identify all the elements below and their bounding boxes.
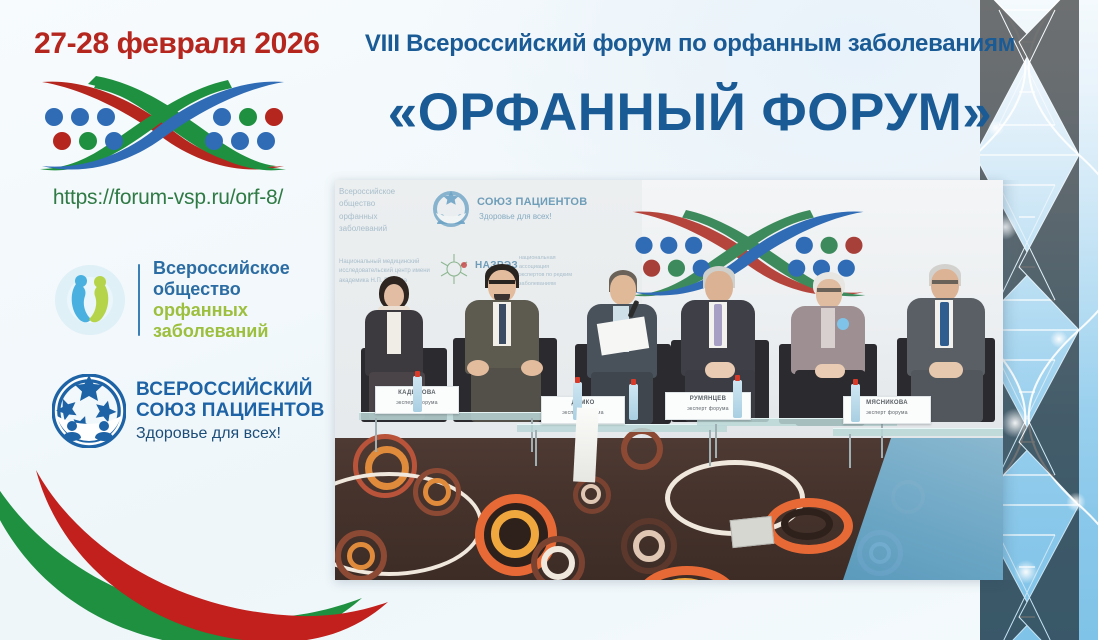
forum-url[interactable]: https://forum-vsp.ru/orf-8/: [34, 186, 302, 210]
backdrop-line: Всероссийское: [339, 186, 395, 198]
org-name-vsp: ВСЕРОССИЙСКИЙ СОЮЗ ПАЦИЕНТОВ Здоровье дл…: [136, 380, 325, 442]
event-poster: 27-28 февраля 2026 https://forum-vsp.ru/…: [0, 0, 1098, 640]
backdrop-logo-nazred: [439, 252, 475, 291]
backdrop-line: орфанных: [339, 211, 395, 223]
rolled-banner: [573, 407, 599, 482]
backdrop-line: исследовательский центр имени: [339, 267, 430, 276]
water-bottle: [629, 384, 638, 420]
backdrop-line: ассоциация: [519, 263, 572, 272]
backdrop-line: экспертов по редким: [519, 271, 572, 280]
org-line: ВСЕРОССИЙСКИЙ: [136, 380, 325, 401]
forum-title: «ОРФАННЫЙ ФОРУМ»: [330, 82, 1050, 143]
forum-subtitle: VIII Всероссийский форум по орфанным заб…: [330, 30, 1050, 58]
backdrop-logo-vsooz: Всероссийское общество орфанных заболева…: [339, 186, 395, 236]
bokeh-glow: [1066, 492, 1086, 512]
org-line: Всероссийское: [153, 258, 290, 279]
neuron-icon: [439, 252, 475, 286]
backdrop-line: заболеваний: [339, 223, 395, 235]
org-line: заболеваний: [153, 321, 290, 342]
backdrop-line: национальная: [519, 254, 572, 263]
globe-people-icon: [52, 262, 128, 338]
org-logo-vsp: ВСЕРОССИЙСКИЙ СОЮЗ ПАЦИЕНТОВ Здоровье дл…: [52, 374, 325, 448]
backdrop-vsp-title: СОЮЗ ПАЦИЕНТОВ: [477, 196, 587, 208]
org-line: орфанных: [153, 300, 290, 321]
nameplate-surname: ДЕМКО: [542, 399, 624, 408]
backdrop-line: общество: [339, 198, 395, 210]
water-bottle: [733, 380, 742, 418]
backdrop-line: Национальный медицинский: [339, 258, 430, 267]
backdrop-line: заболеваниям: [519, 280, 572, 289]
event-date: 27-28 февраля 2026: [34, 27, 302, 61]
org-tagline: Здоровье для всех!: [136, 425, 325, 443]
orphan-forum-logo-icon: [32, 72, 294, 176]
circle-of-people-icon: [52, 374, 126, 448]
org-line: общество: [153, 279, 290, 300]
forum-panel-photograph: Всероссийское общество орфанных заболева…: [335, 180, 1003, 580]
bokeh-glow: [1050, 330, 1068, 348]
org-divider: [138, 264, 140, 336]
backdrop-logo-vsp: [431, 190, 471, 233]
water-bottle: [413, 376, 422, 412]
floor-object: [730, 516, 775, 548]
circle-of-people-icon: [431, 190, 471, 228]
org-logo-vsooz: Всероссийское общество орфанных заболева…: [52, 258, 290, 342]
glass-table: [833, 428, 1003, 436]
backdrop-vsp-tagline: Здоровье для всех!: [479, 212, 551, 221]
org-name-vsooz: Всероссийское общество орфанных заболева…: [153, 258, 290, 342]
backdrop-nazred-subtitle: национальная ассоциация экспертов по ред…: [519, 254, 572, 288]
water-bottle: [851, 384, 860, 422]
org-line: СОЮЗ ПАЦИЕНТОВ: [136, 401, 325, 422]
glass-table: [517, 424, 727, 432]
